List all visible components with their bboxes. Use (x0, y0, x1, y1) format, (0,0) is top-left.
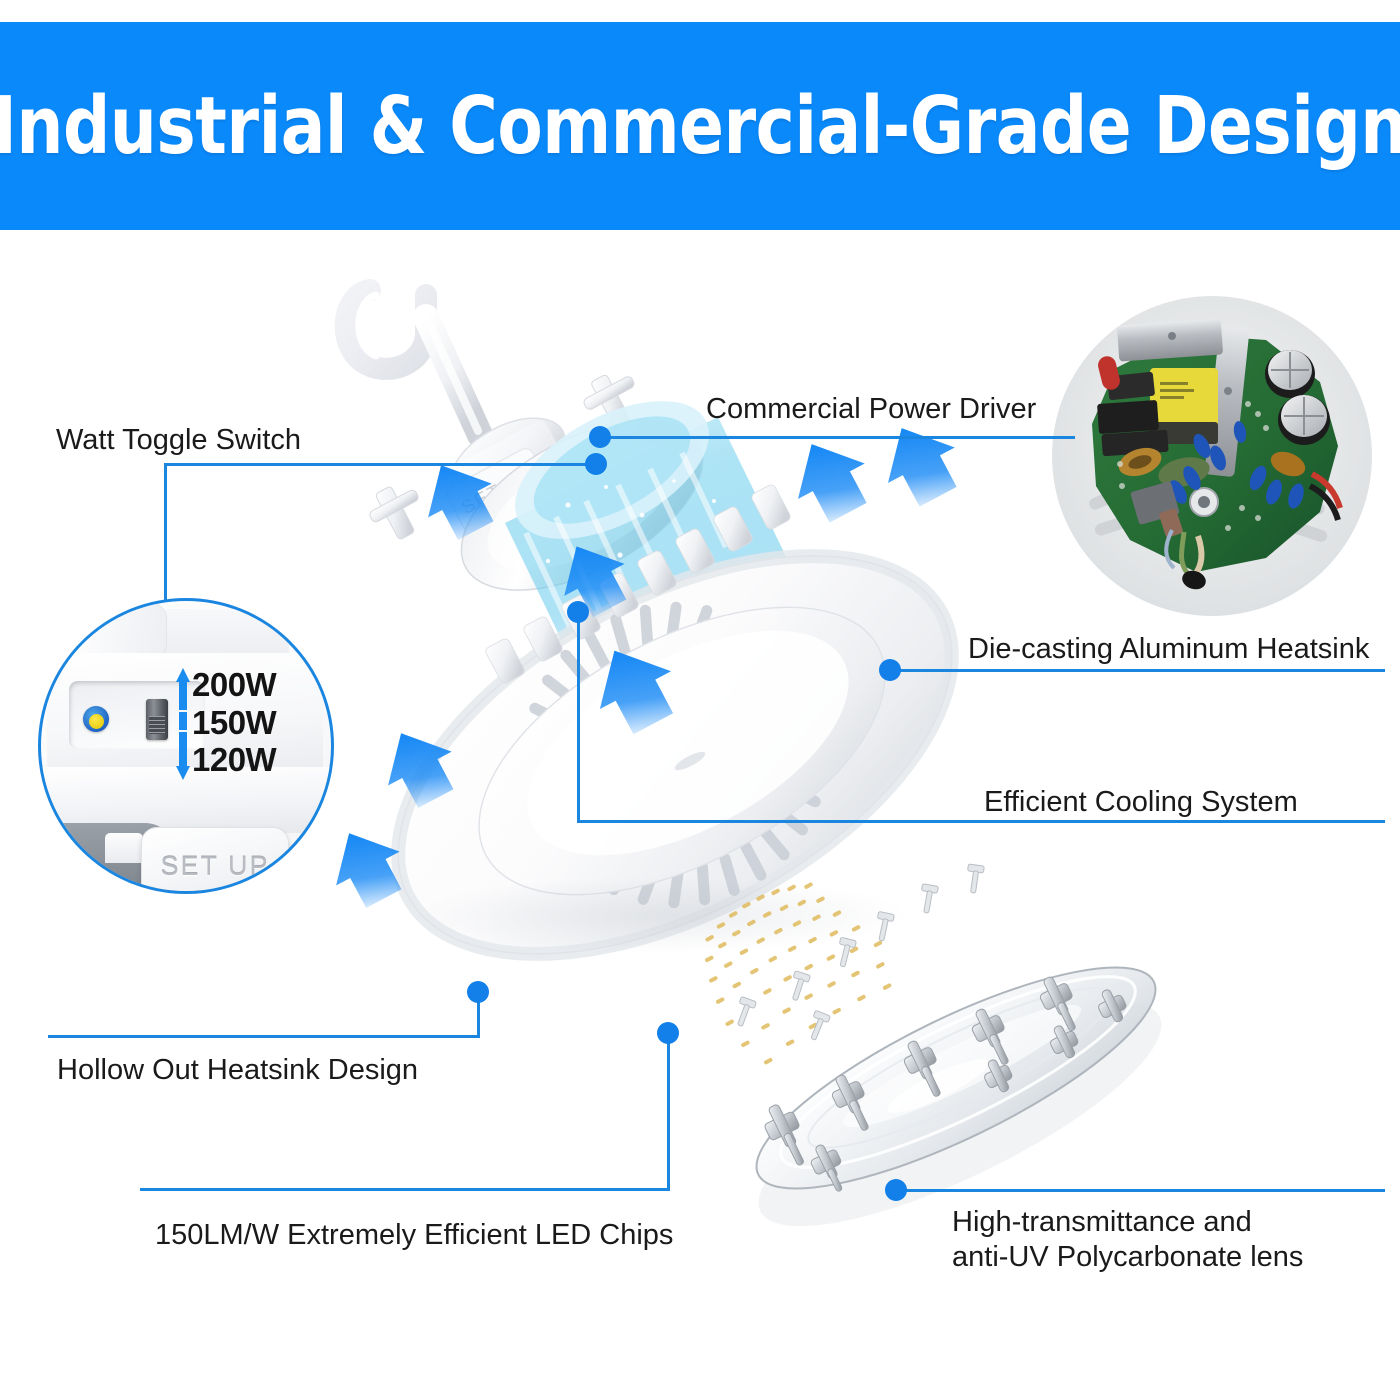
callout-label-die-casting-heatsink: Die-casting Aluminum Heatsink (968, 632, 1369, 667)
callout-label-led-chips: 150LM/W Extremely Efficient LED Chips (155, 1218, 673, 1253)
leader-line-hollow-h (48, 1035, 480, 1038)
leader-line-watt-h (164, 463, 604, 466)
leader-dot-power-driver (589, 426, 611, 448)
leader-line-heatsink (890, 669, 1385, 672)
leader-dot-hollow-out-heatsink (467, 981, 489, 1003)
housing-tab (105, 833, 143, 863)
hanging-hook (346, 290, 480, 435)
watt-slider-toggle[interactable] (146, 699, 168, 740)
page-title: Industrial & Commercial-Grade Design (0, 80, 1400, 172)
callout-label-watt-toggle-switch: Watt Toggle Switch (56, 423, 301, 458)
switch-indicator-knob-center (89, 714, 104, 729)
leader-line-watt-v (164, 463, 167, 600)
callout-label-commercial-power-driver: Commercial Power Driver (706, 392, 1036, 427)
leader-dot-efficient-cooling (567, 601, 589, 623)
callout-label-hollow-out-heatsink: Hollow Out Heatsink Design (57, 1053, 418, 1088)
leader-line-cooling-h (577, 820, 1385, 823)
watt-option-200w: 200W (192, 666, 276, 704)
watt-option-150w: 150W (192, 704, 276, 742)
leader-dot-die-casting-heatsink (879, 659, 901, 681)
leader-dot-pc-lens (885, 1179, 907, 1201)
leader-dot-watt-switch (585, 453, 607, 475)
leader-line-led-h (140, 1188, 670, 1191)
leader-line-hollow-v (477, 1001, 480, 1037)
driver-pcb-illustration (1052, 296, 1372, 616)
leader-line-pc-lens (905, 1189, 1385, 1192)
callout-label-pc-lens-line1: High-transmittance and (952, 1205, 1352, 1240)
callout-label-pc-lens: High-transmittance and anti-UV Polycarbo… (952, 1205, 1352, 1276)
watt-range-arrow-icon (175, 668, 191, 780)
polycarbonate-lens (720, 900, 1190, 1230)
leader-line-led-v (667, 1042, 670, 1190)
power-driver-photo (1052, 296, 1372, 616)
setup-cover-label: SET UP (160, 851, 269, 882)
setup-cover[interactable]: SET UP (141, 827, 289, 894)
infographic-canvas: Industrial & Commercial-Grade Design (0, 0, 1400, 1400)
watt-option-120w: 120W (192, 741, 276, 779)
leader-line-cooling-v (577, 622, 580, 822)
lens-svg (720, 900, 1190, 1230)
leader-line-driver (600, 436, 1075, 439)
callout-label-efficient-cooling: Efficient Cooling System (984, 785, 1298, 820)
callout-label-pc-lens-line2: anti-UV Polycarbonate lens (952, 1240, 1352, 1275)
leader-dot-led-chips (657, 1022, 679, 1044)
watt-options-list: 200W 150W 120W (192, 666, 276, 779)
header-banner: Industrial & Commercial-Grade Design (0, 22, 1400, 230)
